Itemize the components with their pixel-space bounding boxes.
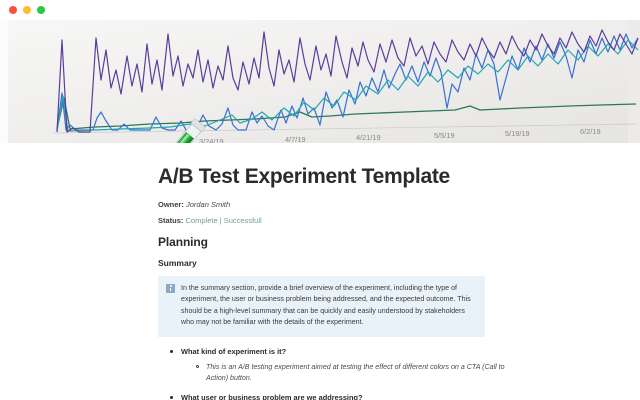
list-item: What kind of experiment is it? This is a…	[170, 346, 485, 385]
document-body: A/B Test Experiment Template Owner: Jord…	[0, 143, 640, 400]
status-line: Status: Complete | Successfull	[158, 216, 485, 226]
info-icon	[166, 284, 175, 293]
hero-chart-illustration: 3/24/19 4/7/19 4/21/19 5/5/19 5/19/19 6/…	[0, 20, 640, 143]
window-traffic-lights	[9, 6, 45, 14]
owner-label: Owner:	[158, 200, 184, 209]
maximize-button[interactable]	[37, 6, 45, 14]
hero-banner-image: 3/24/19 4/7/19 4/21/19 5/5/19 5/19/19 6/…	[0, 20, 640, 143]
window-titlebar	[0, 0, 640, 20]
status-label: Status:	[158, 216, 183, 225]
question-text: What kind of experiment is it?	[181, 347, 286, 356]
minimize-button[interactable]	[23, 6, 31, 14]
status-badge: Complete | Successfull	[186, 216, 262, 225]
owner-line: Owner: Jordan Smith	[158, 200, 485, 210]
answer-list: This is an A/B testing experiment aimed …	[195, 362, 485, 385]
app-window: 3/24/19 4/7/19 4/21/19 5/5/19 5/19/19 6/…	[0, 0, 640, 400]
subsection-heading-summary: Summary	[158, 258, 485, 268]
owner-value: Jordan Smith	[186, 200, 230, 209]
answer-text: This is an A/B testing experiment aimed …	[206, 363, 505, 382]
close-button[interactable]	[9, 6, 17, 14]
page-title: A/B Test Experiment Template	[158, 165, 485, 189]
question-list: What kind of experiment is it? This is a…	[170, 346, 485, 400]
info-callout-text: In the summary section, provide a brief …	[181, 283, 476, 329]
info-callout: In the summary section, provide a brief …	[158, 276, 485, 337]
question-text: What user or business problem are we add…	[181, 393, 363, 400]
section-heading-planning: Planning	[158, 235, 485, 249]
list-item: This is an A/B testing experiment aimed …	[195, 362, 515, 385]
list-item: What user or business problem are we add…	[170, 392, 485, 400]
